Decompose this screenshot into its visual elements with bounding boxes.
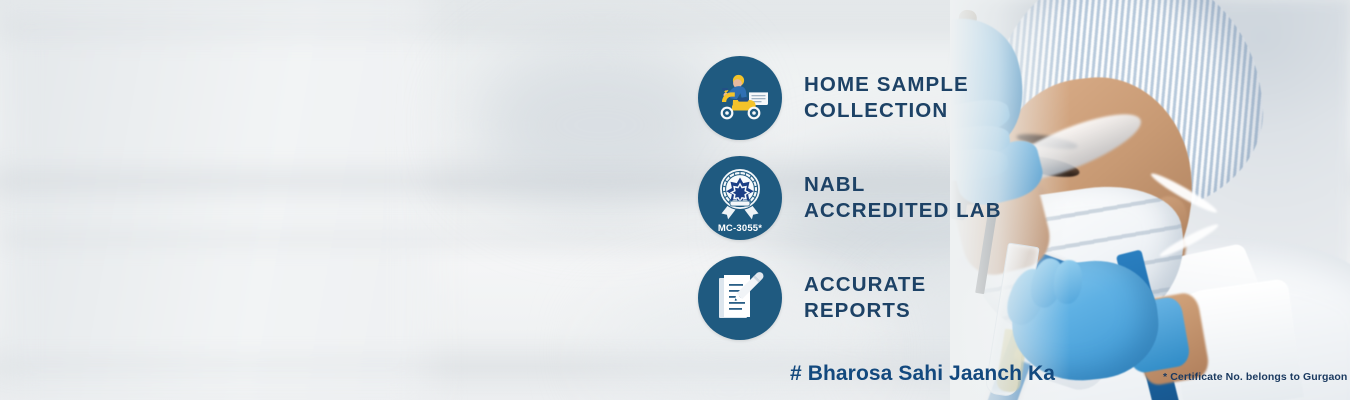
feature-home-sample-collection[interactable]: HOME SAMPLE COLLECTION bbox=[698, 55, 1118, 141]
feature-label: NABL ACCREDITED LAB bbox=[804, 172, 1002, 224]
feature-badge: MC-3055* bbox=[698, 156, 782, 240]
tagline: # Bharosa Sahi Jaanch Ka bbox=[790, 362, 1055, 386]
feature-badge bbox=[698, 56, 782, 140]
feature-badge bbox=[698, 256, 782, 340]
feature-list: HOME SAMPLE COLLECTION bbox=[698, 55, 1118, 355]
certificate-footnote: * Certificate No. belongs to Gurgaon Lab bbox=[1163, 371, 1350, 383]
feature-accurate-reports[interactable]: ACCURATE REPORTS bbox=[698, 255, 1118, 341]
feature-label-line1: NABL bbox=[804, 173, 865, 196]
scooter-delivery-icon bbox=[711, 72, 769, 124]
document-pencil-icon bbox=[714, 271, 766, 325]
badge-certificate-number: MC-3055* bbox=[698, 223, 782, 234]
feature-label-line1: ACCURATE bbox=[804, 273, 926, 296]
feature-label-line2: ACCREDITED LAB bbox=[804, 198, 1002, 224]
promo-banner: HOME SAMPLE COLLECTION bbox=[0, 0, 1350, 400]
feature-label-line1: HOME SAMPLE bbox=[804, 73, 969, 96]
feature-label-line2: COLLECTION bbox=[804, 98, 969, 124]
feature-nabl-accredited-lab[interactable]: MC-3055* NABL ACCREDITED LAB bbox=[698, 155, 1118, 241]
feature-label: HOME SAMPLE COLLECTION bbox=[804, 72, 969, 124]
nabl-seal-icon bbox=[713, 166, 767, 224]
feature-label-line2: REPORTS bbox=[804, 298, 926, 324]
feature-label: ACCURATE REPORTS bbox=[804, 272, 926, 324]
background-left-wash bbox=[0, 0, 430, 400]
